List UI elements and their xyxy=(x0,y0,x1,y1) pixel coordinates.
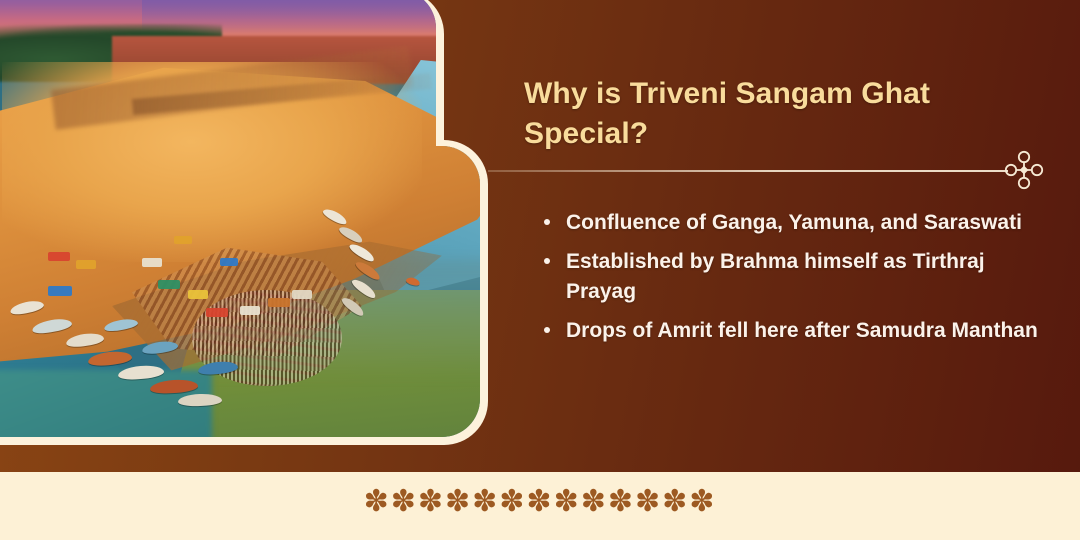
photo-panel xyxy=(0,0,488,445)
bullet-dot-icon xyxy=(544,219,550,225)
bullet-dot-icon xyxy=(544,327,550,333)
list-item-label: Established by Brahma himself as Tirthra… xyxy=(566,250,985,304)
list-item-label: Confluence of Ganga, Yamuna, and Saraswa… xyxy=(566,211,1022,234)
slide-canvas: Why is Triveni Sangam Ghat Special? Conf… xyxy=(0,0,1080,540)
list-item: Drops of Amrit fell here after Samudra M… xyxy=(536,316,1046,347)
section-divider-line xyxy=(488,170,1008,172)
footer-flower-ornament-row: ✽✽✽✽✽✽✽✽✽✽✽✽✽ xyxy=(0,480,1080,524)
fact-bullet-list: Confluence of Ganga, Yamuna, and Saraswa… xyxy=(536,208,1046,355)
four-loop-knot-icon xyxy=(1002,148,1046,192)
list-item-label: Drops of Amrit fell here after Samudra M… xyxy=(566,319,1038,342)
triveni-sangam-photo-art xyxy=(0,0,436,170)
bullet-dot-icon xyxy=(544,258,550,264)
list-item: Established by Brahma himself as Tirthra… xyxy=(536,247,1046,308)
photo-clip-lower xyxy=(0,146,480,437)
triveni-sangam-photo-art-lower xyxy=(0,146,480,437)
photo-clip-upper xyxy=(0,0,436,170)
list-item: Confluence of Ganga, Yamuna, and Saraswa… xyxy=(536,208,1046,239)
footer-band: ✽✽✽✽✽✽✽✽✽✽✽✽✽ xyxy=(0,472,1080,540)
page-title: Why is Triveni Sangam Ghat Special? xyxy=(524,74,1024,153)
